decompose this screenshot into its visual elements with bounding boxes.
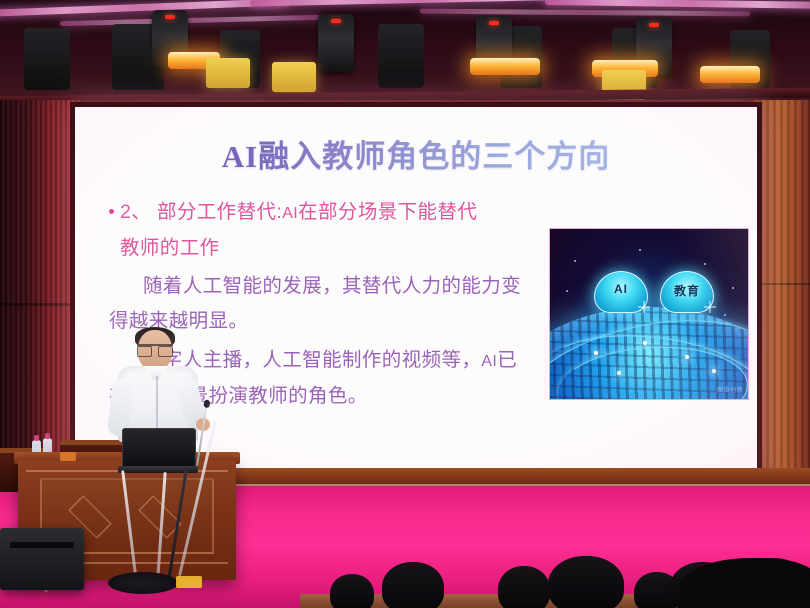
laptop-screen[interactable] <box>122 428 196 468</box>
light-strip <box>250 0 590 7</box>
slide-image-ai-education: AI 教育 图虫创意 <box>549 228 749 400</box>
truss-clamp <box>378 24 424 88</box>
fixture-led-icon <box>165 15 175 19</box>
light-strip <box>0 0 290 17</box>
image-watermark: 图虫创意 <box>717 385 743 394</box>
stage-light-fixture <box>318 14 354 72</box>
network-node <box>685 355 689 359</box>
paragraph-line: 随着人工智能的发展，其替代人力的能力变 <box>109 269 579 304</box>
audience-head <box>382 562 444 608</box>
fixture-led-icon <box>331 19 341 23</box>
glasses-icon <box>137 344 173 353</box>
audience-row <box>0 540 810 608</box>
bullet-dot-icon <box>109 209 114 214</box>
lamp-housing <box>206 58 250 88</box>
sparkle-icon <box>638 301 650 313</box>
presenter-shirt-placket <box>156 376 158 436</box>
audience-head <box>330 574 374 608</box>
light-strip <box>545 0 810 9</box>
audience-head <box>498 566 550 608</box>
light-strip <box>60 15 320 26</box>
audience-head <box>548 556 624 608</box>
bullet-text-line2: 教师的工作 <box>109 231 579 265</box>
slide-title: AI融入教师角色的三个方向 <box>75 131 757 176</box>
truss-clamp <box>24 28 70 90</box>
amber-lamp <box>470 58 540 75</box>
cloud-label-education: 教育 <box>660 282 714 299</box>
light-strip <box>420 9 750 17</box>
sparkle-icon <box>704 301 716 313</box>
ceiling-light-truss <box>0 0 810 100</box>
amber-lamp <box>700 66 760 83</box>
fixture-led-icon <box>649 23 659 27</box>
auditorium-scene: AI融入教师角色的三个方向 2、 部分工作替代:AI在部分场景下能替代 教师的工… <box>0 0 810 608</box>
lamp-housing <box>272 62 316 92</box>
slide-bullet-item: 2、 部分工作替代:AI在部分场景下能替代 <box>109 195 579 231</box>
bullet-text: 2、 部分工作替代:AI在部分场景下能替代 <box>120 195 579 231</box>
network-node <box>594 351 598 355</box>
slide-paragraph-1: 随着人工智能的发展，其替代人力的能力变 得越来越明显。 <box>109 269 579 339</box>
fixture-led-icon <box>489 21 499 25</box>
gaffer-tape-marker <box>60 452 76 461</box>
cloud-label-ai: AI <box>594 282 648 296</box>
